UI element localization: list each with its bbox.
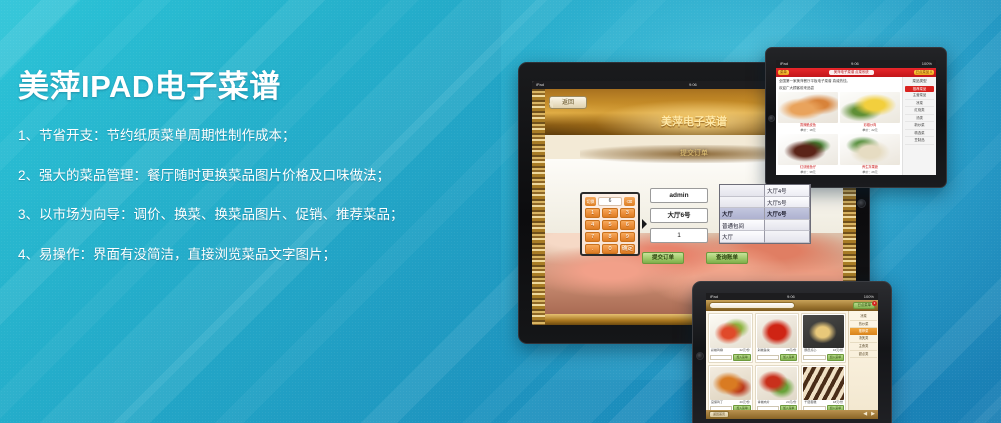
pagination-nav: ◀ ▶ [863,412,875,417]
dish-card[interactable]: 青椒肉片 24元/份 加入菜单 [755,365,800,415]
main-action-buttons: 提交订单 查询账单 [642,252,782,264]
table-cell[interactable]: 大厅4号 [765,185,810,197]
add-to-order-button[interactable]: 加入菜单 [780,354,797,361]
status-battery: 100% [922,60,932,68]
backspace-icon[interactable]: ⌫ [624,197,635,206]
dish-info-row: 剁椒鱼块 28元/份 [757,348,798,353]
dish-price: 24元/份 [786,400,796,405]
quantity-input[interactable] [710,355,732,360]
table-cell[interactable] [720,197,765,209]
content-area: 全国第一家美萍餐厅平板电子菜谱 真诚热忱。 欢迎广大顾客前来品尝 香辣脆皮鱼 单… [776,77,936,175]
status-bar: iPad 9:06 100% [776,60,936,68]
footer-bar: 返回首页 ◀ ▶ [706,410,878,419]
dish-name: 酥皮点心 [804,348,816,353]
status-carrier: iPad [536,81,544,89]
keypad-display-row: 切换 6 ⌫ [585,197,635,206]
sidebar-item-dessert[interactable]: 甜点类 [850,351,877,359]
table-field[interactable]: 大厅6号 [650,208,708,223]
dish-card[interactable]: 剁椒鱼块 28元/份 加入菜单 [755,313,800,363]
dish-name: 宫保鸡丁 [711,400,723,405]
key-8[interactable]: 8 [602,232,617,242]
page-title: 美萍IPAD电子菜谱 [18,70,458,104]
keypad-mode-icon[interactable]: 切换 [585,197,596,206]
dish-name: 青椒肉片 [758,400,770,405]
query-bill-button[interactable]: 查询账单 [706,252,748,264]
category-sidebar: 凉菜 热炒菜 推荐菜 汤煲类 主食类 甜点类 [848,311,878,410]
sidebar-item-stirfry[interactable]: 新炒菜 [905,122,934,129]
sidebar-item-soup[interactable]: 汤煲类 [850,335,877,343]
dish-name: 千层蛋糕 [804,400,816,405]
quantity-input[interactable] [757,355,779,360]
table-cell[interactable]: 大厅 [720,231,765,243]
content-area: 彩椒鸡柳 22元/份 加入菜单 [706,311,878,410]
dish-card[interactable]: 酥皮点心 16元/份 加入菜单 [801,313,846,363]
key-4[interactable]: 4 [585,220,600,230]
promo-banner: 美萍IPAD电子菜谱 1、节省开支：节约纸质菜单周期性制作成本； 2、强大的菜品… [0,0,1001,423]
search-input[interactable] [709,302,795,309]
dish-image [778,134,838,165]
sidebar-item-staple[interactable]: 主食类 [850,343,877,351]
quantity-input[interactable] [803,355,825,360]
dish-image [803,367,844,400]
sidebar-title: 菜品类型 [905,79,934,84]
dish-card[interactable]: 彩椒鸡柳 22元/份 加入菜单 [708,313,753,363]
numeric-keypad[interactable]: 切换 6 ⌫ 1 2 3 4 5 6 7 8 [580,192,640,256]
dish-price: 单价：18元 [778,128,838,132]
dish-actions: 加入菜单 [710,354,751,361]
dish-price: 28元/份 [786,348,796,353]
key-2[interactable]: 2 [602,208,617,218]
dish-card[interactable]: 宫保鸡丁 20元/份 加入菜单 [708,365,753,415]
dish-price: 单价：22元 [840,128,900,132]
top-right-ipad-device: iPad 9:06 100% 菜单 美萍电子菜谱 点菜系统 已点菜品 0 全国第… [765,47,947,188]
dish-image [778,92,838,123]
sidebar-item-main[interactable]: 主营菜品 [905,92,934,99]
red-header-bar: 菜单 美萍电子菜谱 点菜系统 已点菜品 0 [776,68,936,77]
status-carrier: iPad [780,60,788,68]
dish-card[interactable]: 彩椒炒肉 单价：22元 [840,92,900,132]
people-count-field[interactable]: 1 [650,228,708,243]
status-clock: 9:06 [689,81,697,89]
sidebar-item-cold[interactable]: 凉菜 [850,313,877,321]
next-page-icon[interactable]: ▶ [871,412,875,417]
dish-card[interactable]: 红烧鲍鱼仔 单价：38元 [778,134,838,174]
home-button-icon[interactable] [768,115,775,122]
sidebar-item-selected[interactable]: 精选菜 [905,130,934,137]
table-cell[interactable]: 普通包间 [720,220,765,232]
dish-image [840,134,900,165]
keypad-grid: 1 2 3 4 5 6 7 8 9 . 0 确定 [585,208,635,254]
dish-image [757,367,798,400]
dish-name: 彩椒鸡柳 [711,348,723,353]
dish-image [840,92,900,123]
username-field[interactable]: admin [650,188,708,203]
table-cell[interactable] [765,231,810,243]
cart-label: 已点菜单 [857,303,871,307]
dish-grid-area: 全国第一家美萍餐厅平板电子菜谱 真诚热忱。 欢迎广大顾客前来品尝 香辣脆皮鱼 单… [776,77,902,175]
key-3[interactable]: 3 [620,208,635,218]
dish-price: 20元/份 [739,400,749,405]
dish-info-row: 彩椒鸡柳 22元/份 [710,348,751,353]
back-button[interactable]: 返回 [549,96,587,109]
cart-button[interactable]: 已点菜单 3 [853,302,875,309]
dish-name: 剁椒鱼块 [758,348,770,353]
dish-price: 单价：26元 [840,170,900,174]
gold-header-bar: 已点菜单 3 [706,300,878,311]
top-right-ipad-screen: iPad 9:06 100% 菜单 美萍电子菜谱 点菜系统 已点菜品 0 全国第… [776,60,936,175]
table-cell[interactable]: 大厅5号 [765,197,810,209]
dish-price: 18元/份 [833,400,843,405]
login-fields: admin 大厅6号 1 [650,188,708,248]
menu-chip-button[interactable]: 菜单 [778,70,789,75]
key-9[interactable]: 9 [620,232,635,242]
feature-item-2: 2、强大的菜品管理：餐厅随时更换菜品图片价格及口味做法； [18,169,458,183]
sidebar-item-cold[interactable]: 凉菜 [905,100,934,107]
dish-card[interactable]: 千层蛋糕 18元/份 加入菜单 [801,365,846,415]
dish-image [757,315,798,348]
table-cell[interactable] [720,185,765,197]
cart-button[interactable]: 已点菜品 0 [914,70,934,75]
notice-text: 全国第一家美萍餐厅平板电子菜谱 真诚热忱。 [778,79,900,85]
dish-image [710,367,751,400]
dish-price: 22元/份 [739,348,749,353]
key-confirm[interactable]: 确定 [620,244,635,254]
key-0[interactable]: 0 [602,244,617,254]
dish-image [710,315,751,348]
table-cell-selected[interactable]: 大厅6号 [765,208,810,220]
feature-item-3: 3、以市场为向导：调价、换菜、换菜品图片、促销、推荐菜品； [18,208,458,222]
sidebar-item-tofu[interactable]: 豆制品 [905,137,934,144]
home-button-icon[interactable] [696,352,704,360]
feature-item-1: 1、节省开支：节约纸质菜单周期性制作成本； [18,129,458,143]
category-sidebar: 菜品类型 推荐菜品 主营菜品 凉菜 红烧类 汤类 新炒菜 精选菜 豆制品 [902,77,936,175]
home-button[interactable]: 返回首页 [709,411,729,418]
dish-price: 16元/份 [833,348,843,353]
dish-info-row: 酥皮点心 16元/份 [803,348,844,353]
dish-grid-area: 彩椒鸡柳 22元/份 加入菜单 [706,311,848,410]
dish-card[interactable]: 香辣脆皮鱼 单价：18元 [778,92,838,132]
cart-badge: 3 [872,301,877,306]
banner-copy: 美萍IPAD电子菜谱 1、节省开支：节约纸质菜单周期性制作成本； 2、强大的菜品… [18,70,458,287]
sidebar-item-hot[interactable]: 热炒菜 [850,321,877,329]
table-cell[interactable] [765,220,810,232]
key-5[interactable]: 5 [602,220,617,230]
table-picker-grid[interactable]: 大厅4号 大厅5号 大厅 大厅6号 普通包间 大厅 [719,184,811,244]
dish-info-row: 千层蛋糕 18元/份 [803,400,844,405]
table-cell-selected[interactable]: 大厅 [720,208,765,220]
dish-image [803,315,844,348]
add-to-order-button[interactable]: 加入菜单 [827,354,844,361]
sidebar-item-recommended[interactable]: 推荐菜 [850,328,877,335]
dish-actions: 加入菜单 [757,354,798,361]
greek-key-border-left [532,89,545,325]
pointer-arrow-icon [642,219,652,229]
add-to-order-button[interactable]: 加入菜单 [733,354,750,361]
key-dot[interactable]: . [585,244,600,254]
bottom-right-ipad-screen: iPad 9:06 100% 已点菜单 3 [706,293,878,419]
key-7[interactable]: 7 [585,232,600,242]
key-1[interactable]: 1 [585,208,600,218]
dish-card[interactable]: 养生拌果蔬 单价：26元 [840,134,900,174]
feature-item-4: 4、易操作：界面有没简洁，直接浏览菜品文字图片； [18,248,458,262]
keypad-display: 6 [598,197,622,206]
status-clock: 9:06 [851,60,859,68]
home-button-icon[interactable] [857,199,866,208]
sidebar-item-braised[interactable]: 红烧类 [905,107,934,114]
key-6[interactable]: 6 [620,220,635,230]
header-title: 美萍电子菜谱 点菜系统 [829,70,874,75]
submit-order-button[interactable]: 提交订单 [642,252,684,264]
notice-subtext: 欢迎广大顾客前来品尝 [778,86,900,92]
dish-info-row: 宫保鸡丁 20元/份 [710,400,751,405]
bottom-right-ipad-device: iPad 9:06 100% 已点菜单 3 [692,281,892,423]
dish-price: 单价：38元 [778,170,838,174]
dish-info-row: 青椒肉片 24元/份 [757,400,798,405]
dish-grid: 香辣脆皮鱼 单价：18元 彩椒炒肉 单价：22元 红烧鲍鱼仔 [778,92,900,174]
prev-page-icon[interactable]: ◀ [863,412,867,417]
dish-grid: 彩椒鸡柳 22元/份 加入菜单 [708,313,846,414]
feature-list: 1、节省开支：节约纸质菜单周期性制作成本； 2、强大的菜品管理：餐厅随时更换菜品… [18,129,458,261]
dish-actions: 加入菜单 [803,354,844,361]
sidebar-item-soup[interactable]: 汤类 [905,115,934,122]
